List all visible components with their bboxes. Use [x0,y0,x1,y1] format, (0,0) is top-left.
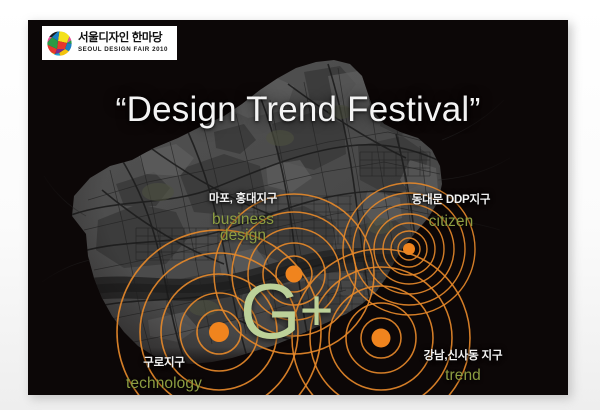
district-keyword-second-line: design [178,227,308,245]
quote-open: “ [115,91,126,128]
logo-wordmark: 서울디자인 한마당 SEOUL DESIGN FAIR 2010 [78,33,168,53]
g-plus-center-mark: G+ [240,272,333,350]
logo-korean-name: 서울디자인 한마당 [78,33,168,45]
seoul-design-fair-logo: 서울디자인 한마당 SEOUL DESIGN FAIR 2010 [42,26,177,60]
logo-english-name: SEOUL DESIGN FAIR 2010 [78,47,168,53]
district-label-guro: 구로지구 technology [94,354,234,393]
g-plus-sign: + [300,278,333,343]
slide-title: “Design Trend Festival” [28,90,568,130]
district-keyword: citizen [390,213,512,231]
colorful-sphere-icon [46,30,73,57]
district-keyword: technology [94,375,234,393]
district-keyword: trend [400,367,526,385]
district-korean-name: 강남,신사동 지구 [400,347,526,363]
district-korean-name: 동대문 DDP지구 [390,191,512,207]
district-korean-name: 구로지구 [94,354,234,370]
quote-close: ” [469,91,480,128]
slide-title-text: Design Trend Festival [127,90,470,129]
district-label-dongdaemun-ddp: 동대문 DDP지구 citizen [390,191,512,231]
district-label-mapo-hongdae: 마포, 홍대지구 business design [178,190,308,245]
district-korean-name: 마포, 홍대지구 [178,190,308,206]
presentation-slide: 서울디자인 한마당 SEOUL DESIGN FAIR 2010 “Design… [28,20,568,395]
screenshot-stage: 서울디자인 한마당 SEOUL DESIGN FAIR 2010 “Design… [0,0,600,410]
district-label-gangnam-sinsa: 강남,신사동 지구 trend [400,347,526,385]
g-plus-letter: G [240,267,300,355]
